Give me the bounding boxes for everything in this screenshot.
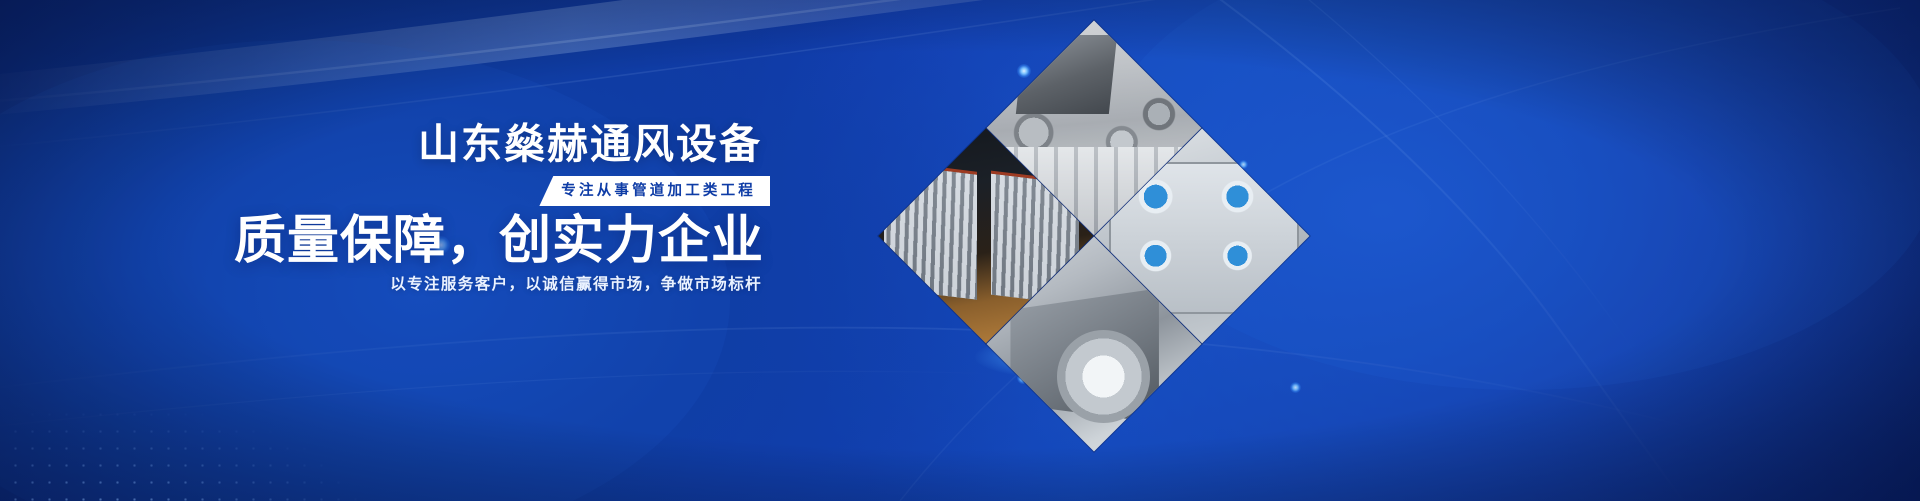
hero-headline: 质量保障，创实力企业 — [234, 212, 764, 270]
glow-dot-lower-right — [1290, 382, 1301, 393]
hero-text-block: 山东燊赫通风设备 专注从事管道加工类工程 质量保障，创实力企业 以专注服务客户，… — [0, 0, 820, 501]
hero-banner: 山东燊赫通风设备 专注从事管道加工类工程 质量保障，创实力企业 以专注服务客户，… — [0, 0, 1920, 501]
diamond-photo-collage — [800, 30, 1250, 370]
hero-subtitle: 以专注服务客户，以诚信赢得市场，争做市场标杆 — [390, 275, 762, 295]
tagline-badge: 专注从事管道加工类工程 — [539, 176, 770, 206]
page-title: 山东燊赫通风设备 — [418, 124, 762, 165]
